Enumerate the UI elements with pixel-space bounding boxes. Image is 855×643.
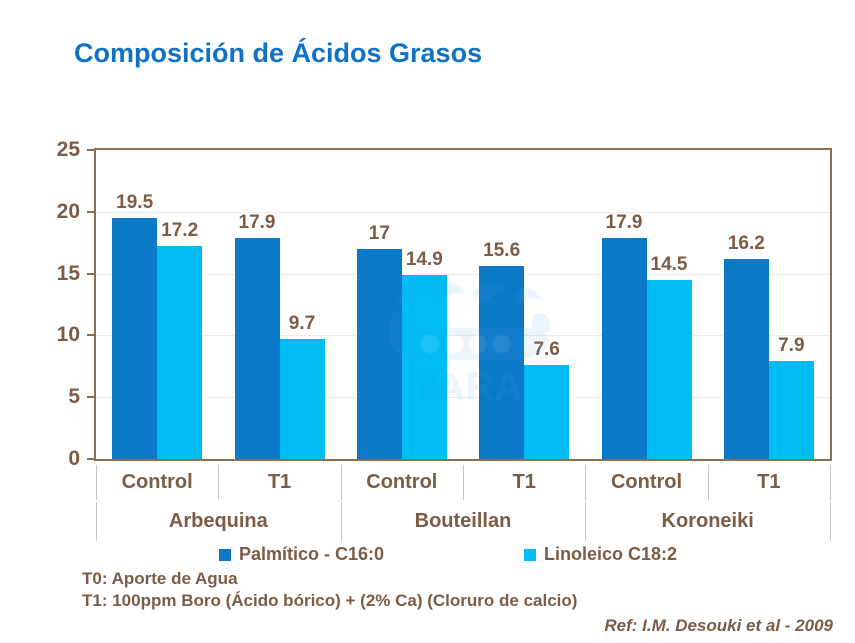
y-axis-tick-label: 5 <box>32 385 80 409</box>
bar-value-label: 15.6 <box>483 240 520 262</box>
group-label-koroneiki: Koroneiki <box>585 502 830 541</box>
plot-inner: 19.517.91715.617.916.217.29.714.97.614.5… <box>96 150 830 459</box>
y-axis-tick <box>87 396 94 398</box>
category-label-t1: T1 <box>218 463 340 502</box>
bar <box>112 218 157 459</box>
bar <box>602 238 647 459</box>
group-label-arbequina: Arbequina <box>96 502 341 541</box>
bar-value-label: 9.7 <box>289 313 315 335</box>
bar <box>357 249 402 459</box>
category-divider <box>830 465 831 500</box>
y-axis-tick-label: 0 <box>32 447 80 471</box>
group-label-bouteillan: Bouteillan <box>341 502 586 541</box>
bar <box>479 266 524 459</box>
legend-item[interactable]: Linoleico C18:2 <box>524 544 677 565</box>
y-axis-tick <box>87 273 94 275</box>
bar <box>402 275 447 459</box>
gridline <box>96 212 830 213</box>
bar-value-label: 7.9 <box>778 335 804 357</box>
y-axis-tick-label: 15 <box>32 262 80 286</box>
category-divider <box>218 465 219 500</box>
bar-value-label: 7.6 <box>533 339 559 361</box>
group-divider <box>830 502 831 541</box>
bar <box>724 259 769 459</box>
legend-swatch-icon <box>524 549 536 561</box>
group-divider <box>96 502 97 541</box>
page-title: Composición de Ácidos Grasos <box>74 38 482 69</box>
group-divider <box>585 502 586 541</box>
gridline <box>96 397 830 398</box>
footnotes: T0: Aporte de Agua T1: 100ppm Boro (Ácid… <box>82 568 577 612</box>
category-divider <box>341 465 342 500</box>
bar-value-label: 14.9 <box>406 249 443 271</box>
gridline <box>96 335 830 336</box>
category-label-control: Control <box>585 463 707 502</box>
footnote-t1: T1: 100ppm Boro (Ácido bórico) + (2% Ca)… <box>82 590 577 612</box>
category-divider <box>708 465 709 500</box>
y-axis-tick <box>87 458 94 460</box>
bar-value-label: 17 <box>369 223 390 245</box>
category-divider <box>585 465 586 500</box>
footnote-t0: T0: Aporte de Agua <box>82 568 577 590</box>
y-axis-tick <box>87 211 94 213</box>
category-axis-level-2: ArbequinaBouteillanKoroneiki <box>94 502 832 541</box>
y-axis-tick-label: 20 <box>32 200 80 224</box>
bar <box>524 365 569 459</box>
y-axis: 0510152025 <box>0 148 94 461</box>
legend-label: Palmítico - C16:0 <box>239 544 384 565</box>
bar <box>280 339 325 459</box>
category-divider <box>463 465 464 500</box>
y-axis-tick <box>87 149 94 151</box>
reference-citation: Ref: I.M. Desouki et al - 2009 <box>604 616 833 636</box>
y-axis-tick-label: 10 <box>32 323 80 347</box>
legend: Palmítico - C16:0Linoleico C18:2 <box>94 544 832 568</box>
legend-label: Linoleico C18:2 <box>544 544 677 565</box>
bar <box>647 280 692 459</box>
legend-swatch-icon <box>219 549 231 561</box>
bar-value-label: 17.2 <box>161 220 198 242</box>
bar-value-label: 19.5 <box>116 192 153 214</box>
bar-value-label: 16.2 <box>728 233 765 255</box>
legend-item[interactable]: Palmítico - C16:0 <box>219 544 384 565</box>
group-divider <box>341 502 342 541</box>
y-axis-tick <box>87 334 94 336</box>
bar <box>157 246 202 459</box>
category-label-control: Control <box>341 463 463 502</box>
bar <box>769 361 814 459</box>
bar <box>235 238 280 459</box>
bar-value-label: 17.9 <box>239 212 276 234</box>
category-divider <box>96 465 97 500</box>
category-label-t1: T1 <box>463 463 585 502</box>
plot-area: 19.517.91715.617.916.217.29.714.97.614.5… <box>94 148 832 461</box>
gridline <box>96 274 830 275</box>
category-label-control: Control <box>96 463 218 502</box>
category-axis: ControlT1ControlT1ControlT1 ArbequinaBou… <box>94 463 832 541</box>
category-label-t1: T1 <box>708 463 830 502</box>
y-axis-tick-label: 25 <box>32 138 80 162</box>
bar-value-label: 17.9 <box>606 212 643 234</box>
bar-value-label: 14.5 <box>651 254 688 276</box>
